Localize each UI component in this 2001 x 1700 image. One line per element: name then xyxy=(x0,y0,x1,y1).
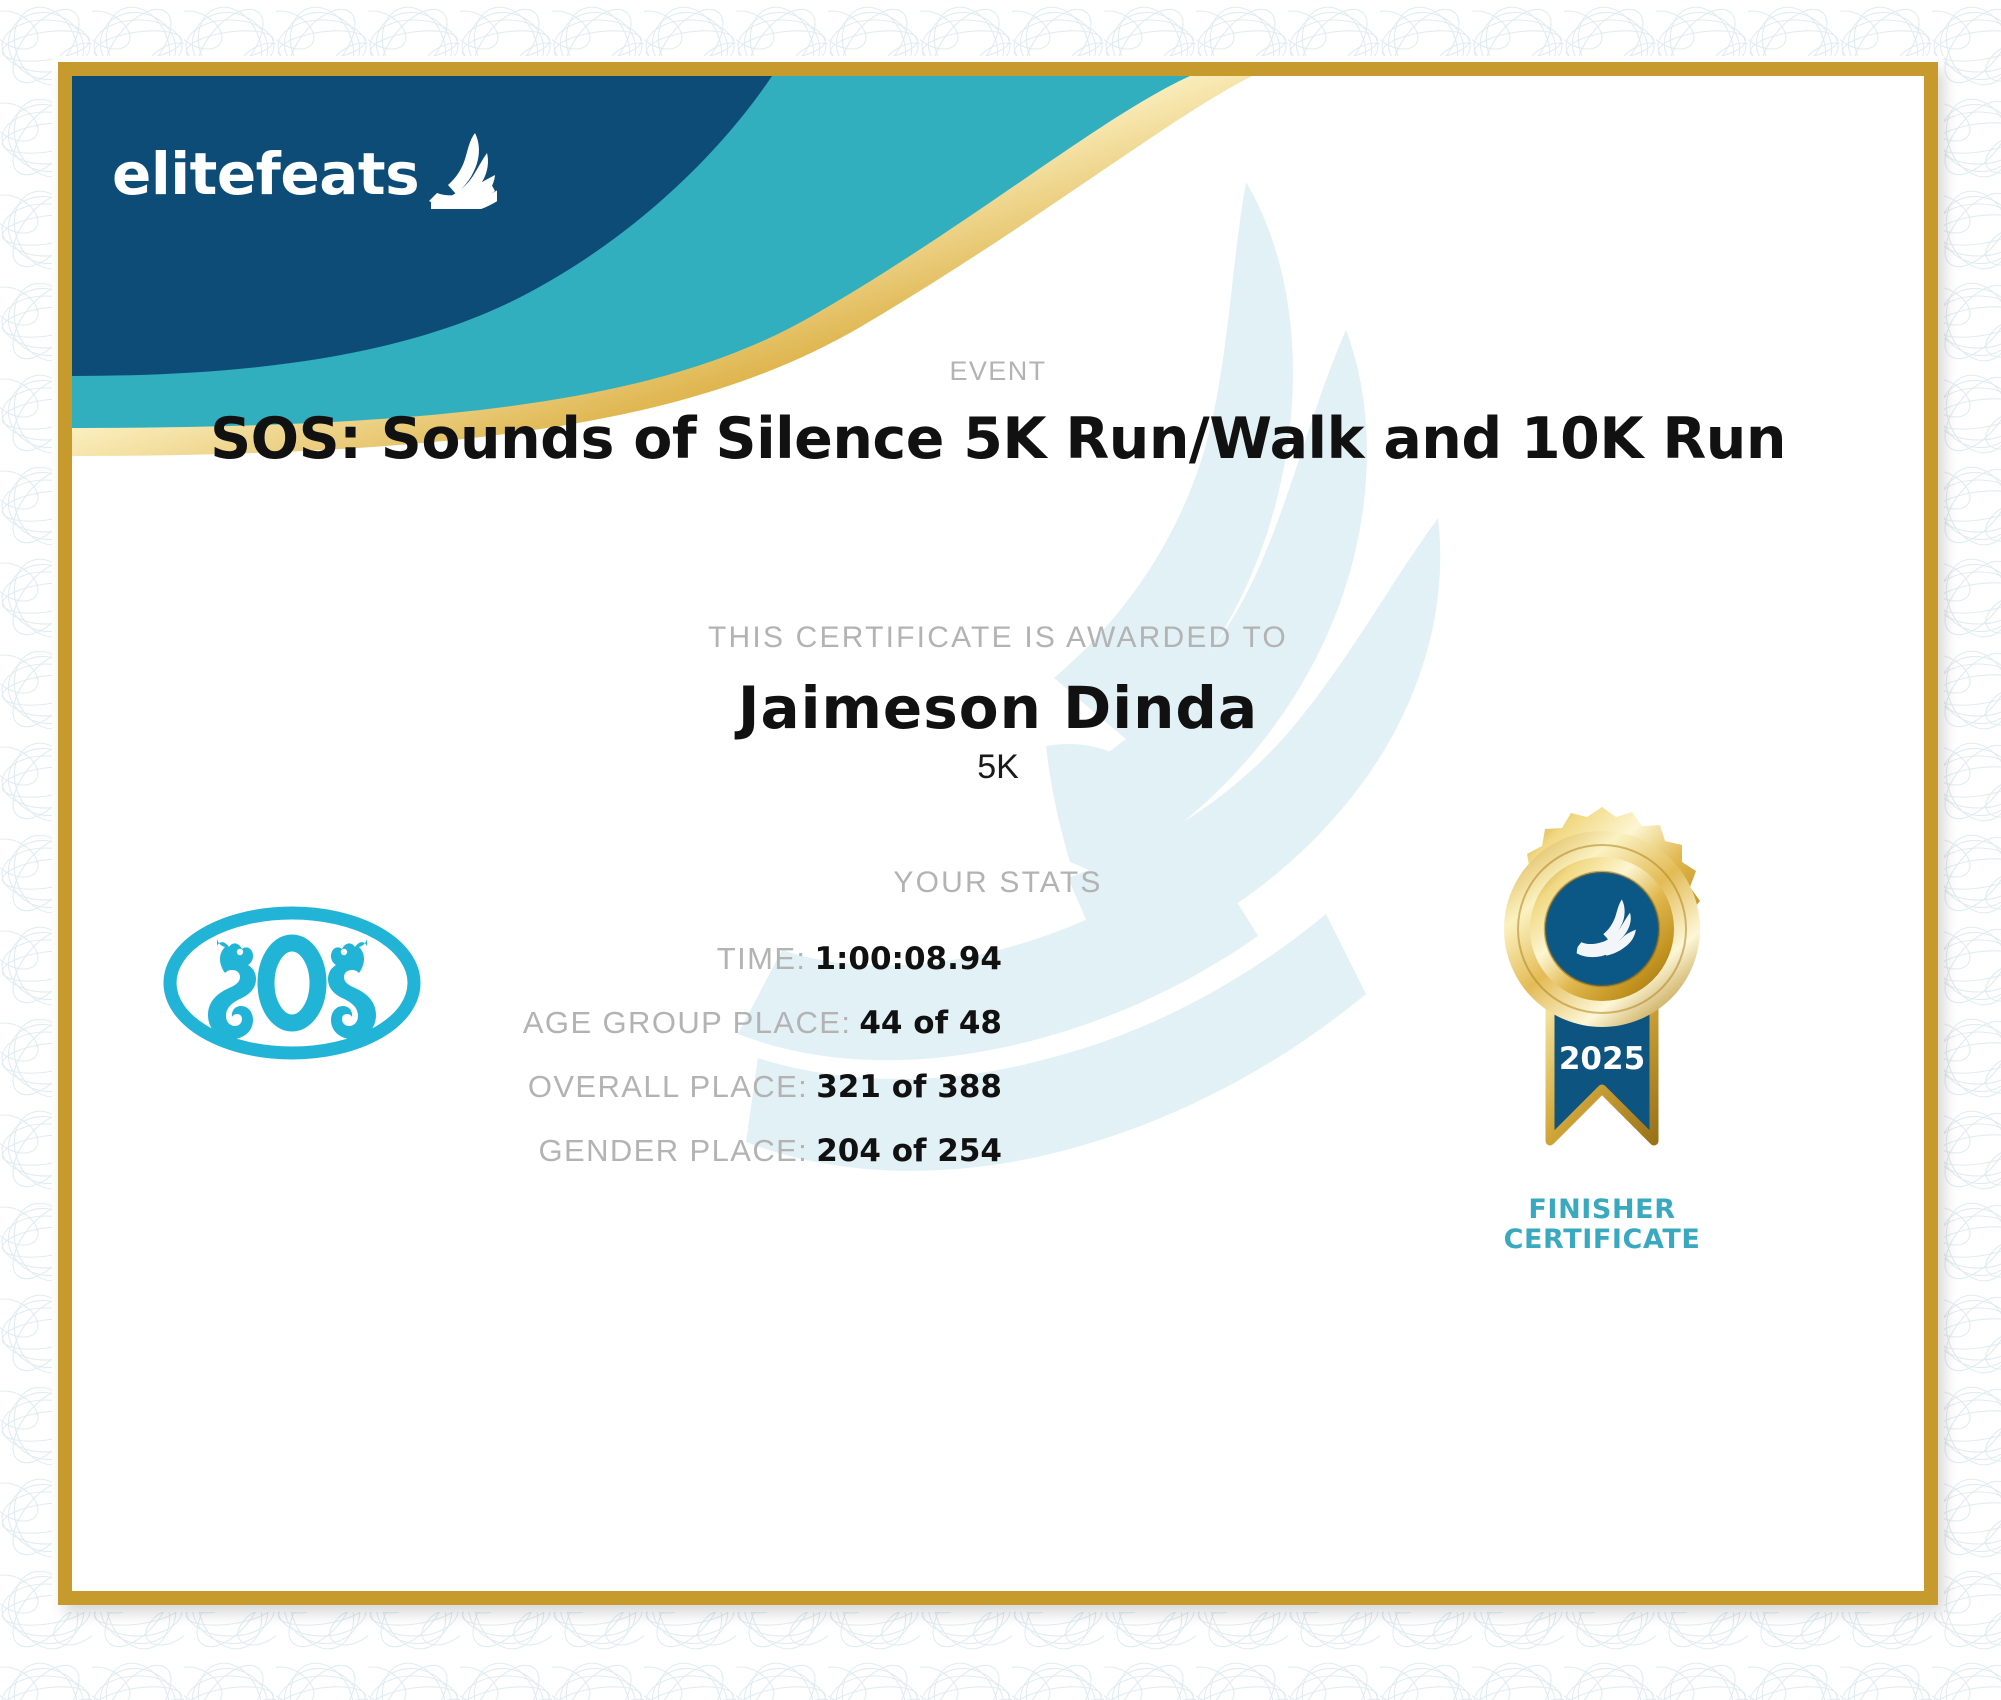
elitefeats-logo: elitefeats xyxy=(112,131,497,203)
finisher-caption-line1: FINISHER xyxy=(1472,1195,1732,1225)
recipient-race-distance: 5K xyxy=(72,748,1924,787)
awarded-to-label: THIS CERTIFICATE IS AWARDED TO xyxy=(72,621,1924,655)
medal-graphic: 2025 xyxy=(1472,801,1732,1191)
stat-label: OVERALL PLACE: xyxy=(528,1069,808,1104)
stat-value: 204 of 254 xyxy=(816,1133,1002,1169)
winged-foot-icon xyxy=(423,131,497,209)
certificate-body: elitefeats EVENT SOS: Sounds of Silence … xyxy=(72,76,1924,1591)
event-label: EVENT xyxy=(72,356,1924,387)
event-title: SOS: Sounds of Silence 5K Run/Walk and 1… xyxy=(72,406,1924,472)
certificate-page: elitefeats EVENT SOS: Sounds of Silence … xyxy=(0,0,2001,1700)
stat-label: GENDER PLACE: xyxy=(538,1133,808,1168)
finisher-medal-badge: 2025 FINISHER CERTIFICATE xyxy=(1472,801,1732,1255)
seahorse-icon xyxy=(208,933,376,1039)
medal-year-text: 2025 xyxy=(1559,1041,1645,1077)
stat-row-overall-place: OVERALL PLACE:321 of 388 xyxy=(72,1069,1002,1105)
stat-label: TIME: xyxy=(717,941,807,976)
stat-value: 1:00:08.94 xyxy=(814,941,1002,977)
gold-frame-border: elitefeats EVENT SOS: Sounds of Silence … xyxy=(58,62,1938,1605)
stat-value: 321 of 388 xyxy=(816,1069,1002,1105)
recipient-name: Jaimeson Dinda xyxy=(72,674,1924,742)
sos-event-logo xyxy=(162,906,422,1061)
stat-label: AGE GROUP PLACE: xyxy=(523,1005,851,1040)
finisher-caption: FINISHER CERTIFICATE xyxy=(1472,1195,1732,1255)
stat-row-gender-place: GENDER PLACE:204 of 254 xyxy=(72,1133,1002,1169)
stat-value: 44 of 48 xyxy=(859,1005,1002,1041)
finisher-caption-line2: CERTIFICATE xyxy=(1472,1225,1732,1255)
logo-wordmark: elitefeats xyxy=(112,145,419,203)
